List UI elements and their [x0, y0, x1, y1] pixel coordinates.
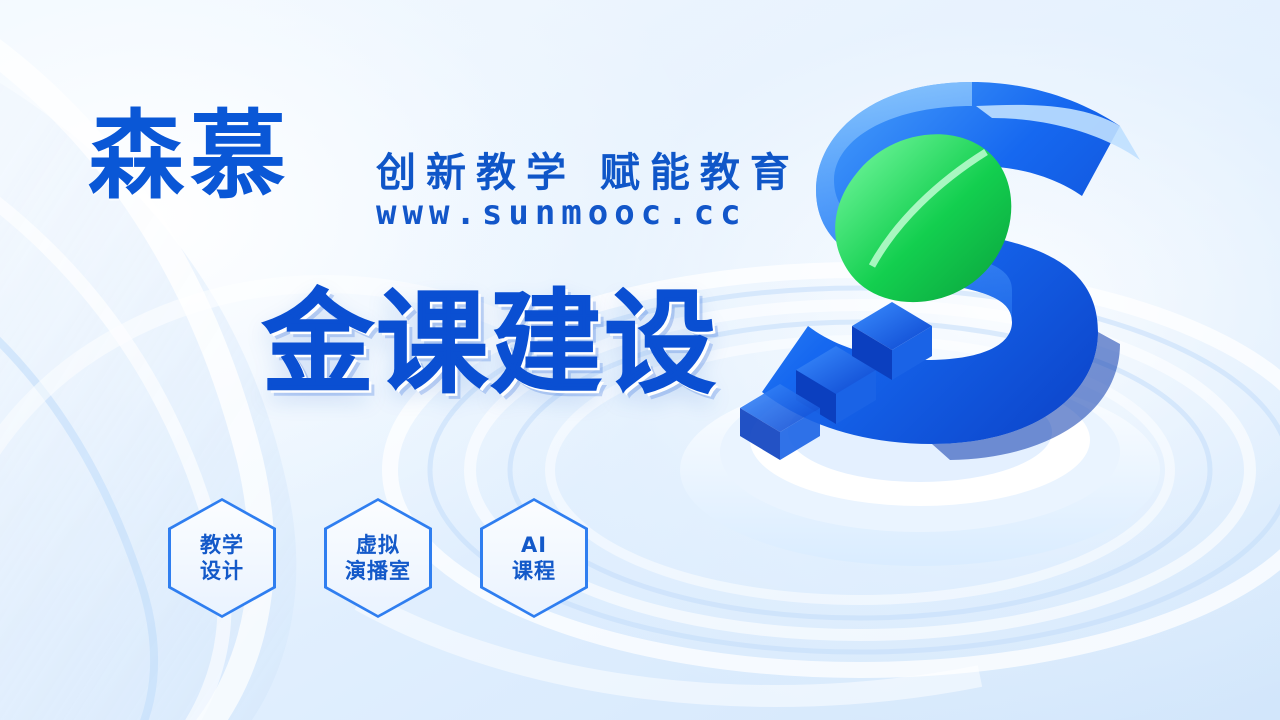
- badge-label: 教学 设计: [200, 532, 244, 585]
- badge-label: 虚拟 演播室: [345, 532, 411, 585]
- leaf-icon: [835, 134, 1011, 302]
- website-url: www.sunmooc.cc: [376, 193, 747, 233]
- brand-name: 森慕: [88, 108, 292, 204]
- blocks-icon: [740, 302, 932, 460]
- page-title: 金课建设: [262, 288, 718, 400]
- slogan-text: 创新教学 赋能教育: [376, 140, 800, 198]
- podium-icon: [680, 372, 1160, 566]
- badge-virtual-studio[interactable]: 虚拟 演播室: [324, 498, 432, 618]
- badge-group: 教学 设计 虚拟 演播室 AI 课程: [168, 498, 588, 618]
- letter-s-mark: [762, 82, 1140, 460]
- promo-banner: 森慕 创新教学 赋能教育 www.sunmooc.cc 金课建设 教学 设计 虚…: [0, 0, 1280, 720]
- badge-teaching-design[interactable]: 教学 设计: [168, 498, 276, 618]
- badge-ai-course[interactable]: AI 课程: [480, 498, 588, 618]
- badge-label: AI 课程: [512, 532, 556, 585]
